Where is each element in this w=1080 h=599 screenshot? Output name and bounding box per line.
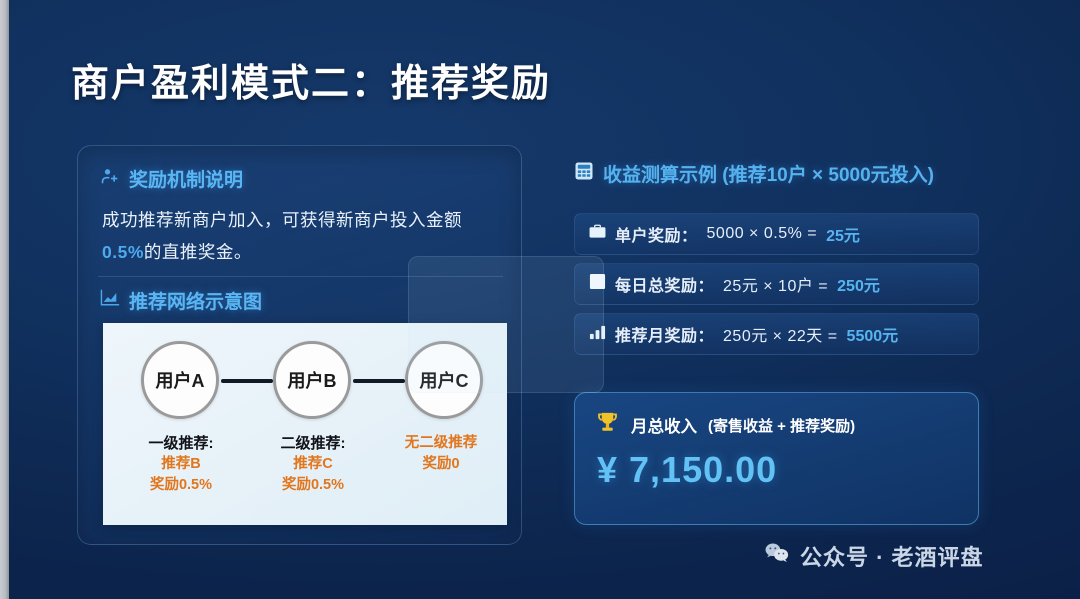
reward-body-suffix: 的直推奖金。 <box>144 242 252 262</box>
reward-mechanism-heading: 奖励机制说明 <box>100 165 243 192</box>
reward-mechanism-card: 奖励机制说明 成功推荐新商户加入，可获得新商户投入金额0.5%的直推奖金。 推荐… <box>77 145 522 545</box>
caption-line2: 奖励0.5% <box>247 475 379 496</box>
calc-row-label: 推荐月奖励： <box>615 322 714 346</box>
slide-stage: 商户盈利模式二：推荐奖励 奖励机制说明 成功推荐新商户加入，可获得新商户投入金额… <box>9 0 1080 599</box>
reward-body-highlight: 0.5% <box>102 242 144 262</box>
calc-row-daily-total: 每日总奖励： 25元 × 10户 = 250元 <box>574 263 979 305</box>
bar-chart-icon <box>589 324 606 345</box>
caption-title: 二级推荐: <box>247 433 379 454</box>
earnings-example-heading-text: 收益测算示例 (推荐10户 × 5000元投入) <box>603 160 934 187</box>
user-plus-icon <box>100 166 120 192</box>
watermark: 公众号 · 老酒评盘 <box>764 540 984 572</box>
calc-row-value: 250元 <box>837 272 880 296</box>
square-icon <box>589 273 606 295</box>
caption-line1: 无二级推荐 <box>375 433 507 454</box>
monthly-total-amount: ¥ 7,150.00 <box>597 449 777 491</box>
diagram-node-user-b: 用户B <box>273 341 351 419</box>
wechat-icon <box>764 542 790 570</box>
reward-mechanism-heading-text: 奖励机制说明 <box>129 165 243 192</box>
earnings-example-heading: 收益测算示例 (推荐10户 × 5000元投入) <box>574 160 934 187</box>
trophy-icon <box>595 410 620 440</box>
calc-row-expression: 25元 × 10户 = <box>723 272 828 296</box>
calc-row-expression: 5000 × 0.5% = <box>707 225 818 243</box>
caption-line2: 奖励0 <box>375 454 507 475</box>
card-divider <box>98 276 503 277</box>
calc-row-single-household: 单户奖励： 5000 × 0.5% = 25元 <box>574 213 979 255</box>
caption-line1: 推荐C <box>247 454 379 475</box>
referral-network-diagram: 用户A 用户B 用户C 一级推荐: 推荐B 奖励0.5% 二级推荐: 推荐C 奖… <box>103 323 507 525</box>
diagram-link-b-c <box>353 379 405 383</box>
calc-row-label: 单户奖励： <box>615 222 698 246</box>
diagram-nodes: 用户A 用户B 用户C <box>103 341 507 423</box>
calc-row-value: 5500元 <box>847 322 899 346</box>
caption-line1: 推荐B <box>115 454 247 475</box>
diagram-caption-level2: 二级推荐: 推荐C 奖励0.5% <box>247 433 379 496</box>
caption-title: 一级推荐: <box>115 433 247 454</box>
monthly-total-label: 月总收入 <box>631 413 697 437</box>
reward-mechanism-body: 成功推荐新商户加入，可获得新商户投入金额0.5%的直推奖金。 <box>102 204 502 268</box>
referral-network-heading: 推荐网络示意图 <box>100 287 262 314</box>
calc-row-monthly-referral: 推荐月奖励： 250元 × 22天 = 5500元 <box>574 313 979 355</box>
watermark-text: 公众号 · 老酒评盘 <box>800 540 984 572</box>
diagram-node-user-a: 用户A <box>141 341 219 419</box>
calc-row-label: 每日总奖励： <box>615 272 714 296</box>
diagram-caption-none: 无二级推荐 奖励0 <box>375 433 507 475</box>
monthly-total-heading: 月总收入 (寄售收益 + 推荐奖励) <box>595 410 855 440</box>
calculator-icon <box>574 161 594 186</box>
left-edge-strip <box>0 0 9 599</box>
diagram-link-a-b <box>221 379 273 383</box>
diagram-node-user-c: 用户C <box>405 341 483 419</box>
calc-row-value: 25元 <box>826 222 860 246</box>
calc-row-expression: 250元 × 22天 = <box>723 322 838 346</box>
reward-body-prefix: 成功推荐新商户加入，可获得新商户投入金额 <box>102 210 462 230</box>
chart-icon <box>100 289 120 313</box>
page-title: 商户盈利模式二：推荐奖励 <box>71 52 551 107</box>
caption-line2: 奖励0.5% <box>115 475 247 496</box>
diagram-caption-level1: 一级推荐: 推荐B 奖励0.5% <box>115 433 247 496</box>
monthly-total-sublabel: (寄售收益 + 推荐奖励) <box>708 415 855 436</box>
briefcase-icon <box>589 224 606 244</box>
monthly-total-card: 月总收入 (寄售收益 + 推荐奖励) ¥ 7,150.00 <box>574 392 979 525</box>
referral-network-heading-text: 推荐网络示意图 <box>129 287 262 314</box>
